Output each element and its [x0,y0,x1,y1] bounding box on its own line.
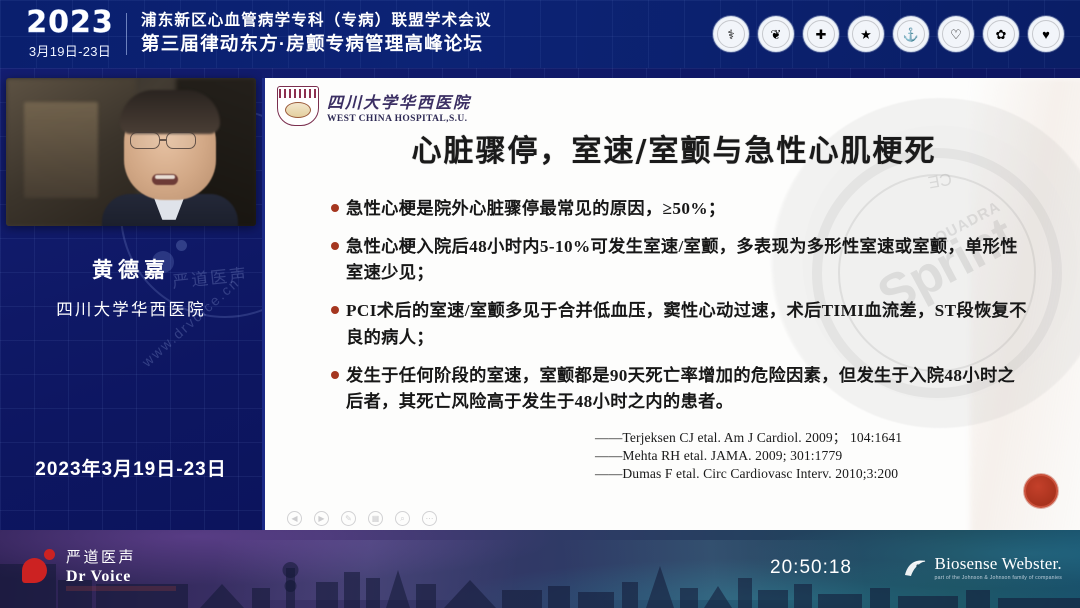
speaker-glasses-left [130,132,160,149]
biosense-webster-mark-icon [902,557,928,579]
speaker-affiliation: 四川大学华西医院 [0,296,262,320]
org-logo-4: ★ [848,16,884,52]
org-logo-7: ✿ [983,16,1019,52]
sponsor-text: Biosense Webster. part of the Johnson & … [935,554,1062,581]
brand-dot-large [22,558,47,583]
hospital-name-cn: 四川大学华西医院 [327,89,471,113]
bullet-item: 急性心梗是院外心脏骤停最常见的原因，≥50%； [331,196,1031,222]
grid-icon: ▦ [372,515,380,523]
crest-emblem [285,102,311,118]
speaker-video-feed[interactable] [6,78,256,226]
more-options-button[interactable]: ⋯ [422,511,437,526]
bullet-marker-icon [331,371,339,379]
citation-item: ——Mehta RH etal. JAMA. 2009; 301:1779 [595,448,902,464]
bullet-item: 发生于任何阶段的室速，室颤都是90天死亡率增加的危险因素，但发生于入院48小时之… [331,363,1031,415]
sponsor-tagline: part of the Johnson & Johnson family of … [935,575,1062,581]
drvoice-brand-text: 严道医声 Dr Voice [66,546,136,586]
event-title-group: 浦东新区心血管病学专科（专病）联盟学术会议 第三届律动东方·房颤专病管理高峰论坛 [141,11,492,57]
slide-overview-button[interactable]: ▦ [368,511,383,526]
video-background-shelf [24,102,98,198]
slide-viewer[interactable]: Sprint QUADRA CE 四川大学华西医院 WEST CHINA HOS… [262,78,1080,534]
event-header-banner: 2023 3月19日-23日 浦东新区心血管病学专科（专病）联盟学术会议 第三届… [0,0,1080,68]
bullet-text: 急性心梗入院后48小时内5-10%可发生室速/室颤，多表现为多形性室速或室颤，单… [346,234,1031,286]
speaker-teeth [155,175,175,179]
org-logo-1: ⚕ [713,16,749,52]
citation-item: ——Dumas F etal. Circ Cardiovasc Interv. … [595,466,902,482]
magnifier-icon: ⌕ [400,515,404,523]
speaker-name: 黄德嘉 [0,254,262,284]
presentation-controls[interactable]: ◀ ▶ ✎ ▦ ⌕ ⋯ [287,511,437,526]
org-logo-2: ❦ [758,16,794,52]
slide-seal-icon [1024,474,1058,508]
speaker-glasses-right [166,132,196,149]
medical-cross-icon: ⚕ [727,28,734,41]
star-icon: ★ [860,28,872,41]
citation-item: ——Terjeksen CJ etal. Am J Cardiol. 2009；… [595,426,902,446]
pen-tool-button[interactable]: ✎ [341,511,356,526]
flower-icon: ✿ [996,28,1007,41]
drvoice-brand-logo: 严道医声 Dr Voice [22,546,136,586]
prev-icon: ◀ [291,515,297,523]
speaker-sidebar: 严道医声 www.drvoice.cn 黄德嘉 四川大学华西医院 2023年3月… [0,68,262,530]
organizer-logo-row: ⚕ ❦ ✚ ★ ⚓ ♡ ✿ ♥ [713,16,1064,52]
hospital-logo: 四川大学华西医院 WEST CHINA HOSPITAL,S.U. [277,86,471,126]
event-date-label: 2023年3月19日-23日 [0,454,262,481]
next-slide-button[interactable]: ▶ [314,511,329,526]
brand-dot-small [44,549,55,560]
drvoice-mark-icon [22,548,58,584]
speaker-hair [120,90,220,134]
hospital-name-en: WEST CHINA HOSPITAL,S.U. [327,114,471,124]
bullet-marker-icon [331,306,339,314]
ce-mark-icon: CE [927,168,954,192]
heart-outline-icon: ♡ [950,28,962,41]
clock-display: 20:50:18 [770,557,852,579]
bullet-text: 发生于任何阶段的室速，室颤都是90天死亡率增加的危险因素，但发生于入院48小时之… [346,363,1031,415]
org-logo-8: ♥ [1028,16,1064,52]
hospital-crest-icon [277,86,319,126]
crest-roof [279,89,317,98]
event-title: 第三届律动东方·房颤专病管理高峰论坛 [141,32,492,57]
org-logo-5: ⚓ [893,16,929,52]
hospital-logo-text: 四川大学华西医院 WEST CHINA HOSPITAL,S.U. [327,89,471,124]
slide-title: 心脏骤停，室速/室颤与急性心肌梗死 [265,126,1080,170]
brand-name-en: Dr Voice [66,568,136,586]
slide-bullet-list: 急性心梗是院外心脏骤停最常见的原因，≥50%； 急性心梗入院后48小时内5-10… [331,196,1031,427]
event-year: 2023 [26,8,114,38]
speaker-glasses-bridge [160,139,166,141]
org-logo-3: ✚ [803,16,839,52]
presentation-stage: 2023 3月19日-23日 浦东新区心血管病学专科（专病）联盟学术会议 第三届… [0,0,1080,608]
event-subtitle: 浦东新区心血管病学专科（专病）联盟学术会议 [141,11,492,32]
anchor-icon: ⚓ [903,28,919,41]
slide-citations: ——Terjeksen CJ etal. Am J Cardiol. 2009；… [595,426,902,482]
cross-icon: ✚ [816,28,827,41]
play-icon: ▶ [318,515,324,523]
bullet-marker-icon [331,204,339,212]
sponsor-name: Biosense Webster. [935,554,1062,574]
bullet-marker-icon [331,242,339,250]
bullet-text: PCI术后的室速/室颤多见于合并低血压，窦性心动过速，术后TIMI血流差，ST段… [346,298,1031,350]
brand-name-cn: 严道医声 [66,546,136,567]
pen-icon: ✎ [345,515,352,523]
org-logo-6: ♡ [938,16,974,52]
watermark-dot-small [176,240,187,251]
heart-icon: ♥ [1042,28,1050,41]
bullet-item: PCI术后的室速/室颤多见于合并低血压，窦性心动过速，术后TIMI血流差，ST段… [331,298,1031,350]
zoom-button[interactable]: ⌕ [395,511,410,526]
bullet-text: 急性心梗是院外心脏骤停最常见的原因，≥50%； [346,196,726,222]
prev-slide-button[interactable]: ◀ [287,511,302,526]
ellipsis-icon: ⋯ [426,515,434,523]
sponsor-logo: Biosense Webster. part of the Johnson & … [902,554,1062,581]
event-date-range: 3月19日-23日 [29,41,111,60]
header-divider [126,13,127,55]
event-date-block: 2023 3月19日-23日 [18,8,122,60]
leaf-icon: ❦ [771,28,782,41]
footer-bar: 严道医声 Dr Voice 20:50:18 Biosense Webster.… [0,530,1080,608]
bullet-item: 急性心梗入院后48小时内5-10%可发生室速/室颤，多表现为多形性室速或室颤，单… [331,234,1031,286]
